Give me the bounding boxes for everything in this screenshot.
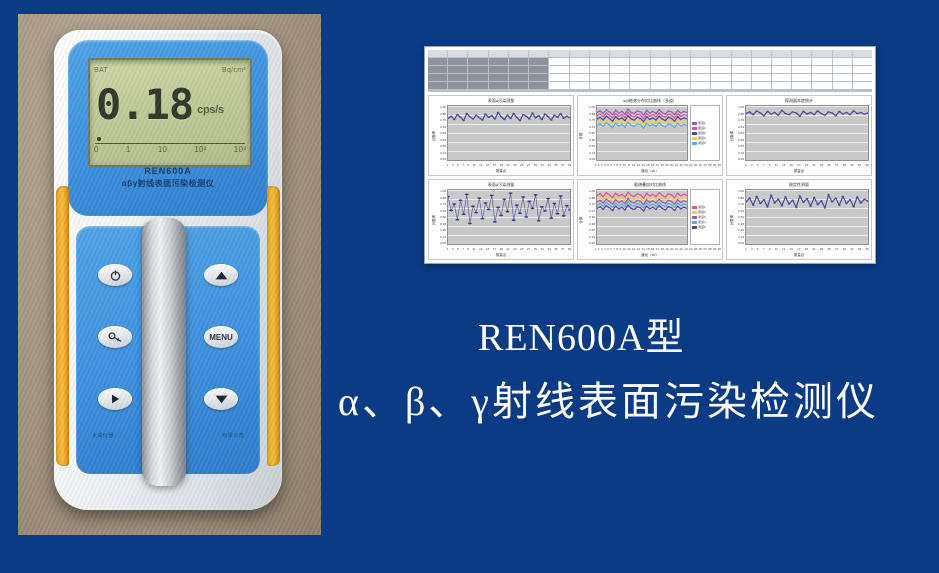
spreadsheet-cell [792,82,811,89]
chart-legend: 通道1通道2通道3通道4通道5 [690,105,720,161]
chart-data-point [480,218,484,220]
chart-x-tick: 19 [805,247,808,251]
chart-x-tick: 13 [479,247,482,251]
chart-data-point [627,115,629,116]
chart-x-tick: 21 [812,163,815,167]
chart-data-point [537,115,540,116]
play-button[interactable] [98,388,132,410]
chart-legend-label: 通道3 [698,131,706,135]
chart-legend-item: 通道3 [692,215,718,219]
chart-x-axis: 1357911131517192123252729313335 [743,161,871,169]
spreadsheet-cell [570,50,589,57]
chart-data-point [630,115,632,116]
grip-right [267,186,280,466]
chart-data-point [633,116,635,117]
spreadsheet-cell [489,66,508,73]
spreadsheet-cell [732,50,751,57]
chart-data-point [599,200,601,201]
chart-data-point [605,205,607,206]
key-button[interactable] [98,326,132,348]
chart-y-tick: 0.00 [430,157,446,161]
chart-data-point [842,196,845,197]
chart-x-tick: 33 [858,163,861,167]
chart-x-tick: 24 [689,247,692,251]
spreadsheet-cell [610,66,629,73]
chart-legend-label: 通道3 [698,215,706,219]
chart-data-point [802,111,805,112]
power-icon [109,269,122,282]
chart-x-tick: 15 [790,163,793,167]
chart-y-tick: 0.75 [579,202,595,206]
chart-data-point [680,205,682,206]
chart-plot-area [447,189,571,245]
chart-data-point [661,112,663,113]
chart-x-tick: 3 [751,247,753,251]
chart-data-point [643,207,645,208]
spreadsheet-row [428,74,872,81]
chart-data-point [652,121,654,122]
chart-data-point [784,113,787,114]
chart-x-tick: 13 [637,247,640,251]
chart-x-tick: 6 [610,163,612,167]
chart-data-point [643,128,645,129]
spreadsheet-cell [833,58,852,65]
device-head-panel: BAT Bq/cm² 0.18 cps/s 0 1 10 10² 10³ [68,40,268,216]
spreadsheet-cell [529,66,548,73]
chart-data-point [627,192,629,193]
spreadsheet-cell [509,50,528,57]
chart-y-tick: 0.75 [728,118,744,122]
chart-data-point [646,202,648,203]
chart-data-point [621,121,623,122]
chart-data-point [809,206,812,207]
chart-data-point [664,126,666,127]
chart-y-tick: 0.75 [430,118,446,122]
chart-data-point [649,199,651,200]
chart-series-line [597,109,687,115]
spreadsheet-cell [489,50,508,57]
chart-data-point [599,114,601,115]
chart-x-tick: 29 [534,163,537,167]
chart-data-point [621,117,623,118]
chart-data-point [674,117,676,118]
chart-data-point [655,202,657,203]
chart-data-point [630,122,632,123]
chart-panel: 表面β污染测量1.000.880.750.630.500.380.250.130… [428,179,574,260]
chart-y-tick: 0.88 [728,196,744,200]
chart-x-tick: 29 [713,247,716,251]
chart-x-axis: 1234567891011121314151617181920212223242… [594,245,722,253]
chart-data-point [806,114,809,115]
chart-data-point [484,202,488,204]
chart-data-point [667,120,669,121]
chart-data-point [627,205,629,206]
chart-data-point [649,125,651,126]
chart-data-point [643,115,645,116]
spreadsheet-cell [671,58,690,65]
chart-data-point [462,120,465,121]
chart-data-point [652,207,654,208]
spreadsheet-cell [549,74,568,81]
chart-x-tick: 29 [534,247,537,251]
chart-series-line [746,195,868,208]
chart-data-point [834,198,837,199]
chart-x-tick: 13 [782,247,785,251]
spreadsheet-cell [610,58,629,65]
chart-data-point [633,123,635,124]
chart-data-point [599,123,601,124]
chart-data-point [627,198,629,199]
chart-x-tick: 11 [775,247,778,251]
chart-data-point [621,114,623,115]
product-model-title: REN600A型 [478,318,930,360]
chart-data-point [599,196,601,197]
device-footnote-right: 有限公司 [222,432,244,439]
chart-data-point [784,196,787,197]
chart-data-point [630,118,632,119]
chart-data-point [674,127,676,128]
spreadsheet-cell [833,66,852,73]
chart-data-point [636,114,638,115]
spreadsheet-cell [489,58,508,65]
chart-x-tick: 25 [694,163,697,167]
spreadsheet-cell [812,58,831,65]
chart-data-point [670,194,672,195]
chart-data-point [624,126,626,127]
chart-legend-item: 通道2 [692,126,718,130]
chart-x-tick: 37 [561,247,564,251]
chart-legend-item: 通道2 [692,210,718,214]
chart-x-tick: 3 [452,247,454,251]
chart-data-point [683,121,685,122]
chart-x-tick: 3 [751,163,753,167]
chart-data-point [795,112,798,113]
chart-data-point [605,116,607,117]
chart-data-point [661,208,663,209]
lcd-scale-tick: 10 [158,145,167,154]
chart-data-point [639,124,641,125]
chart-data-point [627,201,629,202]
chart-x-tick: 39 [568,247,571,251]
chart-data-point [475,115,478,116]
chart-data-point [624,200,626,201]
spreadsheet-cell [651,66,670,73]
chart-data-point [630,112,632,113]
headline-block: REN600A型 α、β、γ射线表面污染检测仪 [330,318,930,424]
chart-data-point [795,207,798,208]
spreadsheet-cell [671,50,690,57]
spreadsheet-cell [772,50,791,57]
chart-x-tick: 2 [598,247,600,251]
chart-legend-label: 通道2 [698,210,706,214]
spreadsheet-cell [549,58,568,65]
chart-data-point [527,200,531,202]
chart-x-tick: 15 [486,163,489,167]
chart-data-point [608,118,610,119]
chart-data-point [845,112,848,113]
chart-x-tick: 27 [527,163,530,167]
chart-data-point [664,200,666,201]
chart-data-point [465,193,469,195]
chart-x-tick: 7 [462,163,464,167]
chart-data-point [683,111,685,112]
chart-data-point [813,197,816,198]
chart-data-point [639,118,641,119]
chart-data-point [469,116,472,117]
chart-x-label: 测量点 [727,253,871,258]
chart-x-tick: 4 [604,163,606,167]
chart-data-point [859,112,862,113]
spreadsheet-cell [529,74,548,81]
chart-y-label: 计数率 [432,130,437,141]
chart-x-tick: 17 [493,163,496,167]
chart-data-point [602,116,604,117]
lcd-status-right: Bq/cm² [222,67,246,74]
chart-data-point [621,197,623,198]
chart-data-point [652,203,654,204]
chart-x-label: 测量点 [429,169,573,174]
chart-data-point [674,200,676,201]
chart-data-point [612,117,614,118]
chart-data-point [748,198,751,199]
chart-data-point [680,112,682,113]
chart-data-point [661,122,663,123]
chart-data-point [649,112,651,113]
chart-x-tick: 9 [467,247,469,251]
chart-y-tick: 0.13 [430,151,446,155]
chart-data-point [615,113,617,114]
chart-x-tick: 5 [757,247,759,251]
spreadsheet-cell [549,82,568,89]
chart-x-tick: 33 [547,163,550,167]
chart-data-point [646,110,648,111]
chart-data-point [646,196,648,197]
chart-data-point [658,202,660,203]
chart-data-point [849,114,852,115]
chart-x-tick: 11 [775,163,778,167]
chart-data-point [856,196,859,197]
chart-y-tick: 0.25 [728,144,744,148]
chart-legend-item: 通道4 [692,136,718,140]
spreadsheet-cell [853,50,872,57]
spreadsheet-cell [509,58,528,65]
grip-left [56,186,69,466]
spreadsheet-cell [691,58,710,65]
device-footnote-left: 太湖仪器 [92,432,114,439]
chart-x-tick: 17 [656,247,659,251]
chart-data-point [831,201,834,202]
spreadsheet-cell [448,50,467,57]
chart-data-point [633,113,635,114]
chart-data-point [849,199,852,200]
chart-data-point [621,200,623,201]
chart-data-point [624,196,626,197]
chart-data-point [813,114,816,115]
chart-data-point [599,117,601,118]
chart-data-point [605,202,607,203]
chart-x-tick: 28 [708,163,711,167]
chart-data-point [490,195,494,197]
chart-data-point [658,122,660,123]
chart-x-label: 道址（ch） [578,253,722,258]
chart-y-tick: 1.00 [579,189,595,193]
chart-data-point [643,121,645,122]
chart-data-point [770,195,773,196]
chart-series-line [597,192,687,198]
chart-data-point [852,206,855,207]
chart-data-point [627,118,629,119]
chart-y-tick: 0.25 [430,144,446,148]
menu-button[interactable]: MENU [204,326,238,348]
chart-data-point [661,115,663,116]
chart-legend-item: 通道3 [692,131,718,135]
down-button[interactable] [204,388,238,410]
spreadsheet-cell [651,74,670,81]
chart-data-point [674,121,676,122]
chart-data-point [670,118,672,119]
chart-data-point [856,113,859,114]
chart-x-tick: 1 [745,247,747,251]
chart-y-tick: 0.00 [728,157,744,161]
chart-x-axis: 1234567891011121314151617181920212223242… [594,161,722,169]
chart-legend-label: 通道5 [698,141,706,145]
chart-data-point [618,205,620,206]
chart-data-point [658,192,660,193]
chart-x-tick: 20 [670,163,673,167]
chart-y-tick: 0.63 [579,209,595,213]
chart-data-point [612,121,614,122]
chart-x-tick: 15 [790,247,793,251]
chart-y-tick: 0.25 [430,228,446,232]
spreadsheet-row [428,58,872,65]
chart-x-tick: 31 [541,247,544,251]
chart-data-point [522,114,525,115]
chart-data-point [852,110,855,111]
chart-x-tick: 23 [513,247,516,251]
spreadsheet-cell [812,50,831,57]
chart-y-tick: 0.25 [579,228,595,232]
chart-data-point [658,116,660,117]
chart-x-tick: 21 [812,247,815,251]
chart-legend-swatch [692,122,697,125]
chart-data-point [816,110,819,111]
chart-legend-swatch [692,216,697,219]
chart-data-point [630,125,632,126]
chart-legend-label: 通道1 [698,205,706,209]
chart-data-point [636,206,638,207]
chart-x-tick: 10 [623,163,626,167]
chart-data-point [752,205,755,206]
spreadsheet-cell [691,74,710,81]
chart-data-point [683,197,685,198]
chart-x-tick: 1 [595,247,597,251]
chart-data-point [612,203,614,204]
chart-data-point [664,206,666,207]
chart-data-point [484,114,487,115]
chart-x-tick: 14 [641,163,644,167]
chart-data-point [658,195,660,196]
chart-data-point [639,194,641,195]
spreadsheet-cell [590,58,609,65]
chart-x-tick: 11 [627,163,630,167]
chart-data-point [605,199,607,200]
chart-data-point [667,203,669,204]
chart-data-point [615,199,617,200]
chart-legend-swatch [692,127,697,130]
key-icon [108,331,123,343]
chart-data-point [636,120,638,121]
chart-data-point [455,219,459,221]
up-button[interactable] [204,264,238,286]
chart-data-point [605,112,607,113]
chart-data-point [462,213,466,215]
chart-data-point [624,206,626,207]
chart-x-tick: 9 [619,163,621,167]
power-button[interactable] [98,264,132,286]
triangle-right-icon [109,393,121,405]
chart-legend-label: 通道4 [698,220,706,224]
chart-data-point [788,203,791,204]
chart-data-point [670,115,672,116]
chart-x-tick: 1 [745,163,747,167]
chart-series-line [448,193,570,223]
chart-y-tick: 0.63 [728,209,744,213]
chart-x-tick: 21 [506,247,509,251]
spreadsheet-cell [610,50,629,57]
chart-x-tick: 3 [452,163,454,167]
chart-data-point [658,109,660,110]
spreadsheet-cell [448,82,467,89]
chart-data-point [615,123,617,124]
chart-data-point [639,198,641,199]
chart-data-point [655,126,657,127]
chart-data-point [630,205,632,206]
chart-data-point [680,122,682,123]
chart-data-point [643,210,645,211]
chart-data-point [543,210,547,212]
chart-data-point [602,119,604,120]
chart-data-point [652,200,654,201]
chart-x-tick: 5 [457,163,459,167]
product-photo: BAT Bq/cm² 0.18 cps/s 0 1 10 10² 10³ [18,14,321,535]
chart-x-tick: 24 [689,163,692,167]
spreadsheet-cell [489,74,508,81]
spreadsheet-cell [428,58,447,65]
chart-data-point [838,205,841,206]
chart-x-tick: 1 [447,163,449,167]
chart-data-point [608,207,610,208]
chart-data-point [655,113,657,114]
chart-data-point [643,198,645,199]
chart-data-point [670,121,672,122]
chart-plot-area [596,105,688,161]
spreadsheet-cell [468,50,487,57]
chart-data-point [680,202,682,203]
chart-x-tick: 30 [718,247,721,251]
chart-x-tick: 7 [763,247,765,251]
chart-data-point [452,203,456,205]
chart-data-point [518,212,522,214]
chart-y-tick: 0.00 [579,157,595,161]
chart-x-tick: 7 [613,163,615,167]
chart-x-tick: 23 [820,247,823,251]
spreadsheet-cell [448,66,467,73]
lcd-bargraph [95,136,245,144]
chart-data-point [759,112,762,113]
chart-data-point [531,207,535,209]
chart-y-tick: 0.13 [579,151,595,155]
chart-body: 1.000.880.750.630.500.380.250.130.00 [429,104,573,161]
